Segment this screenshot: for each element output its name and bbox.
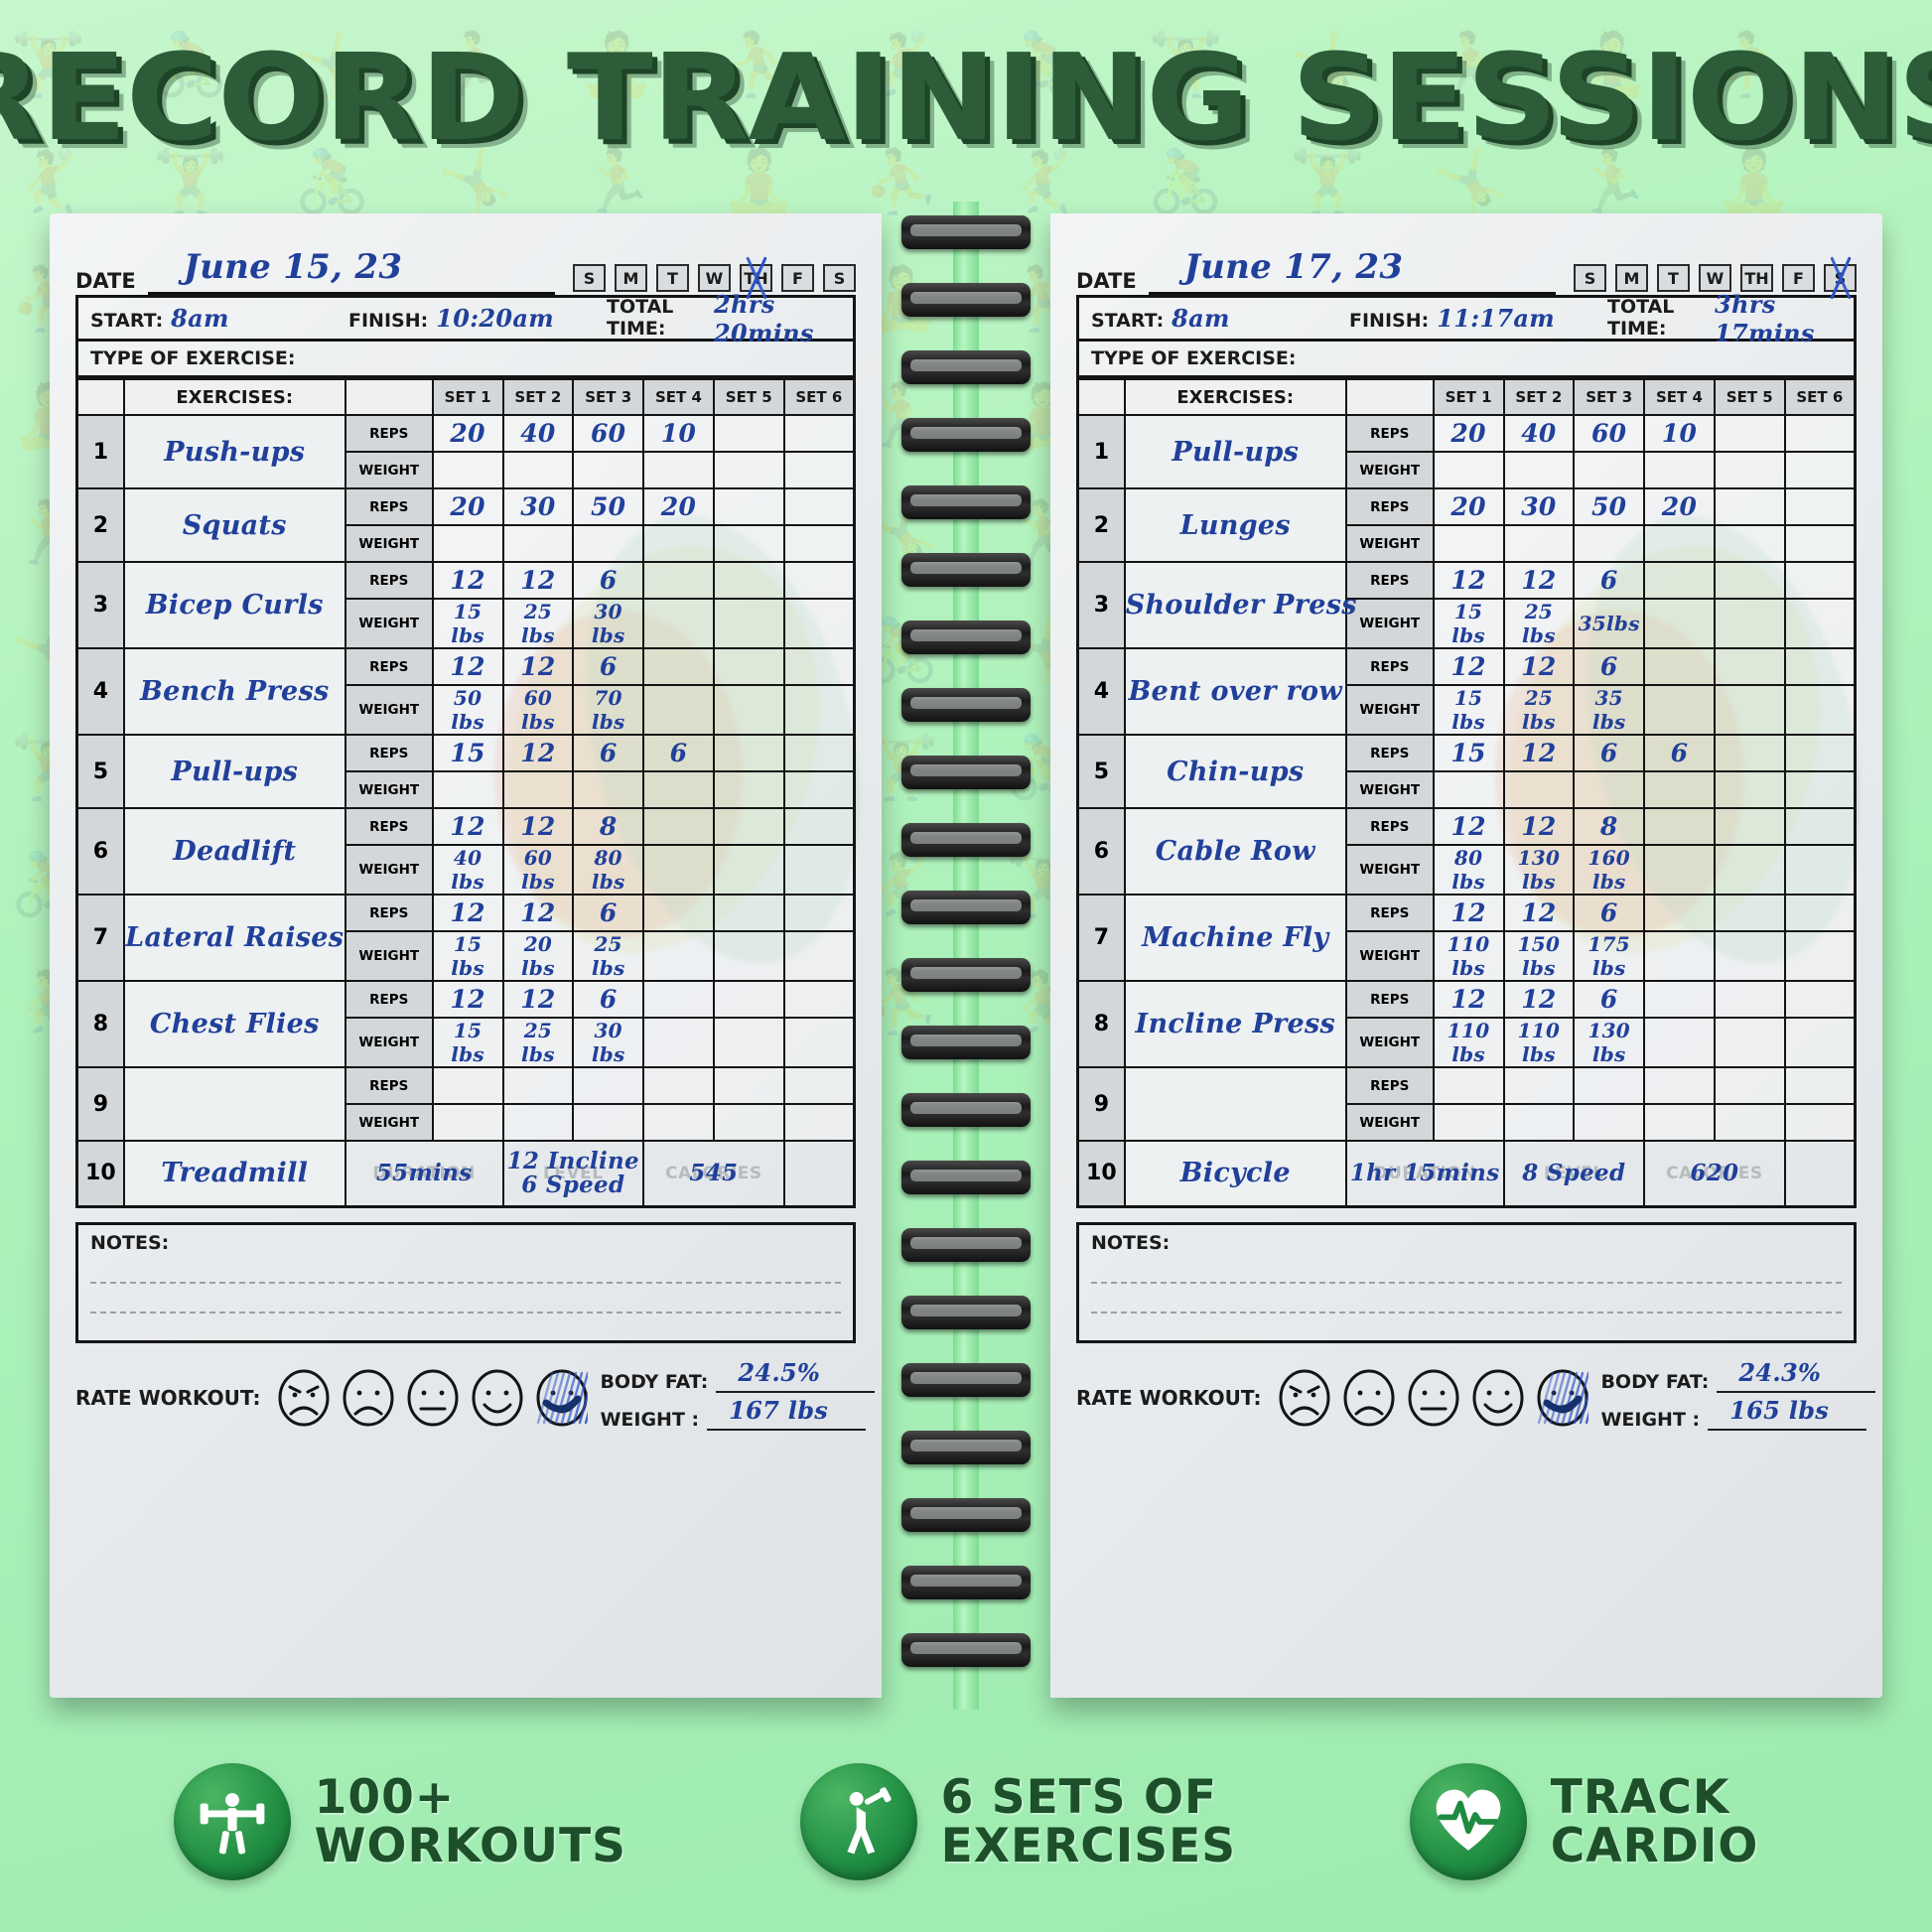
reps-cell-set2[interactable]: 40 — [503, 415, 574, 452]
exercise-name-cell[interactable]: Pull-ups — [124, 735, 345, 808]
day-toggle-s[interactable]: S — [1574, 264, 1606, 292]
angry-face-icon[interactable] — [1279, 1369, 1330, 1427]
reps-cell-set4[interactable] — [1644, 562, 1715, 599]
reps-cell-set3[interactable]: 6 — [1574, 735, 1644, 771]
reps-cell-set1[interactable]: 12 — [1434, 981, 1504, 1018]
reps-cell-set3[interactable]: 50 — [573, 488, 643, 525]
reps-cell-set2[interactable]: 12 — [1504, 562, 1575, 599]
reps-cell-set2[interactable] — [503, 1067, 574, 1104]
day-toggle-m[interactable]: M — [1615, 264, 1648, 292]
weight-label: WEIGHT — [1346, 525, 1434, 562]
weight-cell-set3[interactable] — [573, 771, 643, 808]
reps-cell-set4[interactable] — [1644, 1067, 1715, 1104]
weight-cell-set3[interactable] — [1574, 525, 1644, 562]
body-fat-field[interactable]: BODY FAT:24.5% — [600, 1365, 875, 1393]
weight-cell-set6[interactable] — [1785, 1018, 1856, 1067]
weight-cell-set6[interactable] — [784, 599, 855, 648]
cardio-name-cell[interactable]: Treadmill — [124, 1141, 345, 1206]
reps-cell-set6[interactable] — [1785, 981, 1856, 1018]
exercise-name-cell[interactable]: Machine Fly — [1125, 895, 1346, 981]
reps-cell-set3[interactable]: 60 — [573, 415, 643, 452]
notes-line[interactable] — [90, 1254, 841, 1284]
weight-cell-set5[interactable] — [1715, 931, 1785, 981]
reps-cell-set4[interactable] — [643, 981, 714, 1018]
day-toggle-s[interactable]: S — [823, 264, 856, 292]
body-fat-field[interactable]: BODY FAT:24.3% — [1600, 1365, 1875, 1393]
reps-cell-set2[interactable]: 12 — [503, 562, 574, 599]
weight-cell-set4[interactable] — [1644, 525, 1715, 562]
happy-face-icon[interactable] — [472, 1369, 523, 1427]
day-toggle-t[interactable]: T — [1657, 264, 1690, 292]
weight-cell-set5[interactable] — [714, 1018, 784, 1067]
reps-cell-set5[interactable] — [714, 735, 784, 771]
reps-cell-set4[interactable]: 20 — [643, 488, 714, 525]
sad-face-icon[interactable] — [343, 1369, 394, 1427]
reps-cell-set3[interactable] — [1574, 1067, 1644, 1104]
reps-cell-set1[interactable]: 12 — [433, 981, 503, 1018]
total-time-field[interactable]: TOTAL TIME:2hrs 20mins — [595, 290, 853, 347]
exercise-name-cell[interactable] — [124, 1067, 345, 1141]
day-toggle-f[interactable]: F — [1782, 264, 1815, 292]
reps-cell-set2[interactable]: 30 — [1504, 488, 1575, 525]
cardio-name-cell[interactable]: Bicycle — [1125, 1141, 1346, 1206]
weight-cell-set5[interactable] — [714, 845, 784, 895]
weight-cell-set4[interactable] — [643, 1104, 714, 1141]
weight-cell-set1[interactable]: 15 lbs — [433, 931, 503, 981]
exercise-name-cell[interactable]: Push-ups — [124, 415, 345, 488]
reps-cell-set4[interactable] — [643, 562, 714, 599]
weight-cell-set4[interactable] — [1644, 599, 1715, 648]
weight-cell-set6[interactable] — [784, 685, 855, 735]
weight-cell-set5[interactable] — [714, 685, 784, 735]
reps-cell-set1[interactable]: 15 — [433, 735, 503, 771]
weight-cell-set4[interactable] — [643, 931, 714, 981]
weight-cell-set2[interactable]: 25 lbs — [1504, 685, 1575, 735]
weight-cell-set6[interactable] — [784, 525, 855, 562]
reps-cell-set1[interactable]: 12 — [433, 895, 503, 931]
reps-cell-set4[interactable] — [643, 895, 714, 931]
weight-cell-set5[interactable] — [1715, 525, 1785, 562]
weight-field[interactable]: WEIGHT :167 lbs — [600, 1403, 875, 1431]
reps-cell-set1[interactable]: 20 — [433, 415, 503, 452]
finish-field[interactable]: FINISH:10:20am — [337, 304, 595, 333]
angry-face-icon[interactable] — [278, 1369, 330, 1427]
reps-value: 6 — [1600, 566, 1618, 595]
total-time-field[interactable]: TOTAL TIME:3hrs 17mins — [1595, 290, 1854, 347]
reps-cell-set4[interactable] — [1644, 981, 1715, 1018]
weight-cell-set5[interactable] — [1715, 771, 1785, 808]
reps-cell-set4[interactable]: 20 — [1644, 488, 1715, 525]
weight-cell-set6[interactable] — [784, 771, 855, 808]
reps-cell-set6[interactable] — [1785, 1067, 1856, 1104]
reps-cell-set5[interactable] — [1715, 488, 1785, 525]
cardio-duration-cell[interactable]: DURATION55mins — [345, 1141, 503, 1206]
weight-cell-set5[interactable] — [714, 1104, 784, 1141]
cardio-calories-cell[interactable]: CALORIES545 — [643, 1141, 784, 1206]
reps-cell-set5[interactable] — [714, 1067, 784, 1104]
weight-cell-set1[interactable]: 80 lbs — [1434, 845, 1504, 895]
reps-cell-set6[interactable] — [784, 1067, 855, 1104]
weight-cell-set2[interactable]: 25 lbs — [503, 1018, 574, 1067]
weight-cell-set1[interactable]: 15 lbs — [433, 1018, 503, 1067]
reps-cell-set3[interactable]: 6 — [1574, 981, 1644, 1018]
weight-cell-set6[interactable] — [1785, 452, 1856, 488]
reps-cell-set1[interactable] — [433, 1067, 503, 1104]
weight-cell-set6[interactable] — [1785, 685, 1856, 735]
exercise-name-cell[interactable]: Bicep Curls — [124, 562, 345, 648]
reps-cell-set6[interactable] — [1785, 415, 1856, 452]
reps-cell-set1[interactable]: 15 — [1434, 735, 1504, 771]
weight-cell-set6[interactable] — [1785, 599, 1856, 648]
weight-cell-set2[interactable] — [503, 1104, 574, 1141]
reps-cell-set4[interactable] — [1644, 648, 1715, 685]
weight-cell-set4[interactable] — [643, 771, 714, 808]
weight-label: WEIGHT — [1346, 1104, 1434, 1141]
reps-cell-set6[interactable] — [784, 808, 855, 845]
start-field[interactable]: START:8am — [78, 304, 337, 333]
table-row: 2SquatsREPS20305020 — [77, 488, 855, 525]
date-value: June 17, 23 — [1184, 247, 1404, 287]
exercise-name: Shoulder Press — [1126, 590, 1357, 621]
finish-field[interactable]: FINISH:11:17am — [1337, 304, 1595, 333]
exercise-name-cell[interactable]: Deadlift — [124, 808, 345, 895]
weight-cell-set3[interactable] — [1574, 771, 1644, 808]
weight-cell-set6[interactable] — [1785, 771, 1856, 808]
cardio-duration-cell[interactable]: DURATION1hr 15mins — [1346, 1141, 1504, 1206]
weight-cell-set5[interactable] — [1715, 452, 1785, 488]
weight-cell-set1[interactable] — [433, 1104, 503, 1141]
weight-cell-set6[interactable] — [784, 1104, 855, 1141]
notes-section[interactable]: NOTES: — [75, 1222, 856, 1343]
weight-cell-set4[interactable] — [1644, 771, 1715, 808]
weight-cell-set4[interactable] — [643, 685, 714, 735]
weight-cell-set5[interactable] — [714, 599, 784, 648]
date-input[interactable]: June 15, 23 — [148, 251, 555, 295]
reps-cell-set6[interactable] — [1785, 648, 1856, 685]
weight-cell-set4[interactable] — [1644, 931, 1715, 981]
cardio-calories-cell[interactable]: CALORIES620 — [1644, 1141, 1785, 1206]
weight-cell-set3[interactable] — [573, 452, 643, 488]
weight-cell-set4[interactable] — [1644, 452, 1715, 488]
weight-cell-set3[interactable]: 160 lbs — [1574, 845, 1644, 895]
reps-cell-set5[interactable] — [1715, 895, 1785, 931]
reps-cell-set2[interactable]: 12 — [1504, 735, 1575, 771]
reps-cell-set4[interactable]: 6 — [1644, 735, 1715, 771]
exercise-name-cell[interactable]: Bench Press — [124, 648, 345, 735]
reps-cell-set1[interactable]: 20 — [1434, 415, 1504, 452]
reps-cell-set2[interactable]: 12 — [1504, 895, 1575, 931]
exercise-name-cell[interactable]: Pull-ups — [1125, 415, 1346, 488]
weight-cell-set2[interactable]: 150 lbs — [1504, 931, 1575, 981]
reps-cell-set4[interactable] — [643, 1067, 714, 1104]
weight-cell-set2[interactable] — [503, 525, 574, 562]
reps-value: 6 — [1600, 985, 1618, 1014]
day-toggle-w[interactable]: W — [1699, 264, 1731, 292]
day-toggle-s[interactable]: S — [1824, 264, 1857, 292]
weight-cell-set2[interactable]: 25 lbs — [503, 599, 574, 648]
reps-cell-set3[interactable] — [573, 1067, 643, 1104]
notes-section[interactable]: NOTES: — [1076, 1222, 1857, 1343]
weight-cell-set1[interactable]: 110 lbs — [1434, 1018, 1504, 1067]
neutral-face-icon[interactable] — [1408, 1369, 1459, 1427]
reps-cell-set4[interactable] — [643, 648, 714, 685]
reps-cell-set3[interactable]: 50 — [1574, 488, 1644, 525]
row-number: 9 — [1078, 1067, 1125, 1141]
day-toggle-th[interactable]: TH — [740, 264, 772, 292]
weight-cell-set2[interactable] — [503, 771, 574, 808]
reps-cell-set2[interactable]: 12 — [1504, 981, 1575, 1018]
weight-cell-set4[interactable] — [1644, 1104, 1715, 1141]
weight-cell-set3[interactable]: 30 lbs — [573, 599, 643, 648]
weight-cell-set5[interactable] — [1715, 845, 1785, 895]
reps-cell-set5[interactable] — [714, 895, 784, 931]
notes-line[interactable] — [1091, 1254, 1842, 1284]
reps-cell-set5[interactable] — [1715, 1067, 1785, 1104]
weight-cell-set2[interactable] — [1504, 771, 1575, 808]
reps-cell-set1[interactable]: 12 — [1434, 808, 1504, 845]
reps-cell-set4[interactable]: 6 — [643, 735, 714, 771]
weight-cell-set2[interactable]: 25 lbs — [1504, 599, 1575, 648]
reps-cell-set1[interactable]: 12 — [1434, 648, 1504, 685]
reps-cell-set6[interactable] — [784, 415, 855, 452]
cardio-level-cell[interactable]: LEVEL8 Speed — [1504, 1141, 1645, 1206]
exercise-name-cell[interactable]: Bent over row — [1125, 648, 1346, 735]
reps-cell-set6[interactable] — [1785, 895, 1856, 931]
reps-cell-set5[interactable] — [1715, 648, 1785, 685]
weight-cell-set1[interactable] — [433, 771, 503, 808]
date-input[interactable]: June 17, 23 — [1149, 251, 1556, 295]
weight-cell-set3[interactable] — [573, 1104, 643, 1141]
reps-cell-set5[interactable] — [1715, 415, 1785, 452]
total-time-label: TOTAL TIME: — [1607, 296, 1707, 340]
reps-cell-set5[interactable] — [1715, 562, 1785, 599]
reps-cell-set5[interactable] — [1715, 808, 1785, 845]
reps-cell-set4[interactable]: 10 — [1644, 415, 1715, 452]
weight-cell-set5[interactable] — [1715, 685, 1785, 735]
weight-cell-set1[interactable] — [1434, 525, 1504, 562]
weight-cell-set2[interactable]: 20 lbs — [503, 931, 574, 981]
reps-cell-set4[interactable] — [1644, 808, 1715, 845]
reps-cell-set3[interactable]: 6 — [1574, 562, 1644, 599]
reps-cell-set6[interactable] — [784, 488, 855, 525]
reps-cell-set6[interactable] — [1785, 808, 1856, 845]
exercise-name-cell[interactable]: Squats — [124, 488, 345, 562]
weight-cell-set2[interactable] — [503, 452, 574, 488]
weight-cell-set1[interactable]: 15 lbs — [1434, 599, 1504, 648]
body-fat-value: 24.3% — [1738, 1358, 1821, 1387]
weight-value: 15 lbs — [451, 932, 484, 980]
notes-line[interactable] — [90, 1284, 841, 1313]
weight-cell-set2[interactable]: 130 lbs — [1504, 845, 1575, 895]
reps-cell-set2[interactable]: 12 — [1504, 808, 1575, 845]
weight-cell-set1[interactable]: 15 lbs — [1434, 685, 1504, 735]
reps-cell-set2[interactable]: 12 — [1504, 648, 1575, 685]
exercise-name-cell[interactable] — [1125, 1067, 1346, 1141]
reps-cell-set6[interactable] — [784, 981, 855, 1018]
weight-cell-set1[interactable]: 15 lbs — [433, 599, 503, 648]
weight-cell-set5[interactable] — [714, 525, 784, 562]
weight-cell-set1[interactable] — [1434, 1104, 1504, 1141]
reps-cell-set1[interactable]: 12 — [433, 562, 503, 599]
weight-cell-set5[interactable] — [1715, 1018, 1785, 1067]
reps-cell-set4[interactable] — [643, 808, 714, 845]
neutral-face-icon[interactable] — [407, 1369, 459, 1427]
reps-cell-set4[interactable]: 10 — [643, 415, 714, 452]
reps-cell-set3[interactable]: 60 — [1574, 415, 1644, 452]
weight-cell-set3[interactable]: 70 lbs — [573, 685, 643, 735]
weight-cell-set5[interactable] — [714, 771, 784, 808]
day-toggle-f[interactable]: F — [781, 264, 814, 292]
reps-cell-set1[interactable]: 20 — [1434, 488, 1504, 525]
cardio-level-cell[interactable]: LEVEL12 Incline6 Speed — [503, 1141, 644, 1206]
reps-cell-set3[interactable]: 6 — [1574, 895, 1644, 931]
weight-cell-set6[interactable] — [1785, 525, 1856, 562]
exercise-name-cell[interactable]: Chin-ups — [1125, 735, 1346, 808]
weight-cell-set6[interactable] — [784, 845, 855, 895]
reps-cell-set3[interactable]: 6 — [573, 981, 643, 1018]
reps-cell-set3[interactable]: 6 — [573, 895, 643, 931]
day-toggle-th[interactable]: TH — [1740, 264, 1773, 292]
reps-cell-set3[interactable]: 8 — [573, 808, 643, 845]
weight-cell-set2[interactable]: 110 lbs — [1504, 1018, 1575, 1067]
excited-face-icon[interactable] — [536, 1369, 588, 1427]
reps-cell-set3[interactable]: 6 — [573, 648, 643, 685]
reps-cell-set6[interactable] — [784, 648, 855, 685]
notes-line[interactable] — [1091, 1284, 1842, 1313]
weight-cell-set4[interactable] — [643, 845, 714, 895]
start-field[interactable]: START:8am — [1079, 304, 1337, 333]
exercise-name-cell[interactable]: Incline Press — [1125, 981, 1346, 1067]
weight-cell-set6[interactable] — [784, 452, 855, 488]
weight-cell-set2[interactable] — [1504, 1104, 1575, 1141]
reps-cell-set1[interactable]: 12 — [433, 648, 503, 685]
reps-cell-set3[interactable]: 6 — [573, 562, 643, 599]
feature-text: TRACKCARDIO — [1551, 1773, 1759, 1871]
weight-cell-set3[interactable]: 25 lbs — [573, 931, 643, 981]
day-toggle-s[interactable]: S — [573, 264, 606, 292]
weight-cell-set6[interactable] — [1785, 845, 1856, 895]
reps-cell-set2[interactable]: 12 — [503, 648, 574, 685]
reps-cell-set3[interactable]: 8 — [1574, 808, 1644, 845]
reps-cell-set6[interactable] — [1785, 735, 1856, 771]
weight-field[interactable]: WEIGHT :165 lbs — [1600, 1403, 1875, 1431]
weight-cell-set2[interactable] — [1504, 525, 1575, 562]
weight-cell-set4[interactable] — [643, 1018, 714, 1067]
weight-cell-set5[interactable] — [1715, 1104, 1785, 1141]
reps-cell-set6[interactable] — [784, 562, 855, 599]
reps-cell-set2[interactable]: 12 — [503, 808, 574, 845]
weight-cell-set3[interactable]: 35 lbs — [1574, 685, 1644, 735]
weight-cell-set4[interactable] — [1644, 845, 1715, 895]
reps-value: 50 — [1591, 492, 1626, 521]
weight-cell-set6[interactable] — [1785, 931, 1856, 981]
reps-cell-set4[interactable] — [1644, 895, 1715, 931]
reps-cell-set5[interactable] — [1715, 735, 1785, 771]
reps-cell-set1[interactable]: 12 — [433, 808, 503, 845]
reps-cell-set2[interactable]: 40 — [1504, 415, 1575, 452]
reps-cell-set2[interactable]: 12 — [503, 981, 574, 1018]
weight-cell-set1[interactable] — [433, 452, 503, 488]
weight-cell-set6[interactable] — [1785, 1104, 1856, 1141]
col-metric — [1346, 379, 1434, 415]
reps-cell-set2[interactable] — [1504, 1067, 1575, 1104]
weight-cell-set1[interactable] — [1434, 452, 1504, 488]
reps-cell-set5[interactable] — [714, 488, 784, 525]
reps-cell-set2[interactable]: 30 — [503, 488, 574, 525]
weight-cell-set2[interactable] — [1504, 452, 1575, 488]
weight-cell-set4[interactable] — [643, 599, 714, 648]
weight-cell-set3[interactable] — [1574, 452, 1644, 488]
weight-cell-set5[interactable] — [714, 452, 784, 488]
reps-cell-set2[interactable]: 12 — [503, 735, 574, 771]
reps-cell-set5[interactable] — [714, 562, 784, 599]
weight-cell-set3[interactable]: 80 lbs — [573, 845, 643, 895]
weight-cell-set4[interactable] — [643, 452, 714, 488]
weight-cell-set4[interactable] — [1644, 685, 1715, 735]
reps-cell-set1[interactable]: 20 — [433, 488, 503, 525]
weight-cell-set1[interactable] — [433, 525, 503, 562]
excited-face-icon[interactable] — [1537, 1369, 1588, 1427]
weight-cell-set3[interactable]: 175 lbs — [1574, 931, 1644, 981]
weight-cell-set4[interactable] — [1644, 1018, 1715, 1067]
weight-cell-set6[interactable] — [784, 1018, 855, 1067]
exercise-name-cell[interactable]: Lunges — [1125, 488, 1346, 562]
day-toggle-m[interactable]: M — [615, 264, 647, 292]
weight-cell-set1[interactable]: 50 lbs — [433, 685, 503, 735]
reps-cell-set1[interactable] — [1434, 1067, 1504, 1104]
weight-cell-set1[interactable]: 40 lbs — [433, 845, 503, 895]
reps-cell-set6[interactable] — [1785, 488, 1856, 525]
weight-cell-set5[interactable] — [1715, 599, 1785, 648]
weight-cell-set3[interactable]: 35lbs — [1574, 599, 1644, 648]
total-time-label: TOTAL TIME: — [607, 296, 706, 340]
happy-face-icon[interactable] — [1472, 1369, 1524, 1427]
reps-cell-set5[interactable] — [714, 415, 784, 452]
reps-cell-set2[interactable]: 12 — [503, 895, 574, 931]
reps-cell-set3[interactable]: 6 — [573, 735, 643, 771]
weight-cell-set3[interactable]: 130 lbs — [1574, 1018, 1644, 1067]
reps-cell-set6[interactable] — [1785, 562, 1856, 599]
day-toggle-w[interactable]: W — [698, 264, 731, 292]
exercise-name-cell[interactable]: Shoulder Press — [1125, 562, 1346, 648]
weight-cell-set2[interactable]: 60 lbs — [503, 845, 574, 895]
weight-cell-set5[interactable] — [714, 931, 784, 981]
reps-cell-set6[interactable] — [784, 895, 855, 931]
weight-cell-set1[interactable]: 110 lbs — [1434, 931, 1504, 981]
reps-cell-set5[interactable] — [1715, 981, 1785, 1018]
reps-cell-set1[interactable]: 12 — [1434, 562, 1504, 599]
reps-cell-set5[interactable] — [714, 648, 784, 685]
exercise-name-cell[interactable]: Lateral Raises — [124, 895, 345, 981]
weight-cell-set1[interactable] — [1434, 771, 1504, 808]
reps-cell-set5[interactable] — [714, 808, 784, 845]
reps-cell-set3[interactable]: 6 — [1574, 648, 1644, 685]
reps-cell-set1[interactable]: 12 — [1434, 895, 1504, 931]
weight-cell-set2[interactable]: 60 lbs — [503, 685, 574, 735]
exercise-name-cell[interactable]: Chest Flies — [124, 981, 345, 1067]
weight-cell-set3[interactable] — [573, 525, 643, 562]
reps-cell-set5[interactable] — [714, 981, 784, 1018]
weight-cell-set3[interactable] — [1574, 1104, 1644, 1141]
weight-cell-set6[interactable] — [784, 931, 855, 981]
weight-cell-set3[interactable]: 30 lbs — [573, 1018, 643, 1067]
day-toggle-t[interactable]: T — [656, 264, 689, 292]
weight-cell-set4[interactable] — [643, 525, 714, 562]
sad-face-icon[interactable] — [1343, 1369, 1395, 1427]
exercise-name-cell[interactable]: Cable Row — [1125, 808, 1346, 895]
reps-cell-set6[interactable] — [784, 735, 855, 771]
cardio-row-number: 10 — [77, 1141, 124, 1206]
